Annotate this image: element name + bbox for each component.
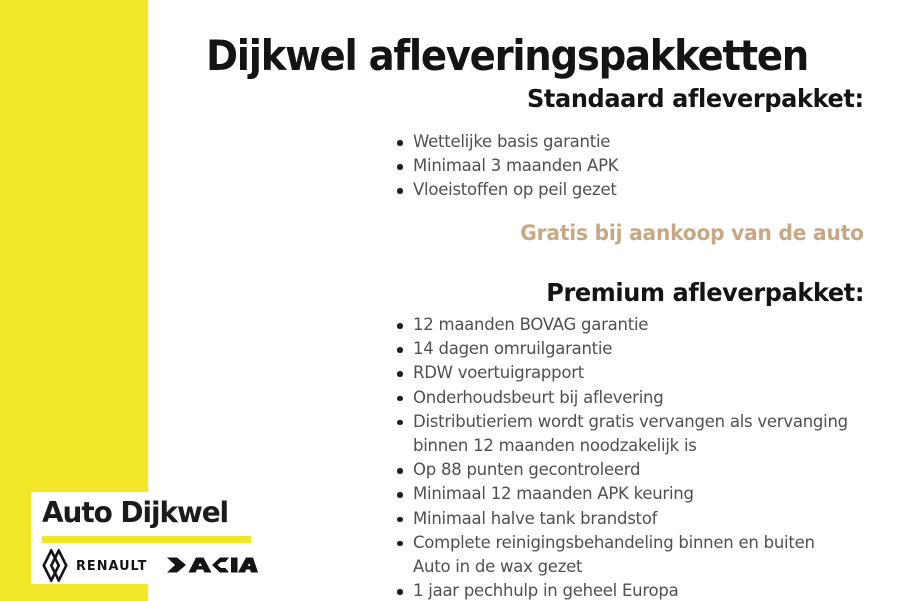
section-heading-premium: Premium afleverpakket:	[546, 278, 864, 308]
list-item: Onderhoudsbeurt bij aflevering	[413, 386, 883, 410]
list-item: Complete reinigingsbehandeling binnen en…	[413, 531, 883, 555]
poster-content: Dijkwel afleveringspakketten Standaard a…	[150, 0, 902, 601]
list-item: RDW voertuigrapport	[413, 361, 883, 385]
renault-diamond-icon	[42, 549, 68, 582]
dealer-logo: Auto Dijkwel RENAULT	[31, 492, 262, 584]
feature-list-premium: 12 maanden BOVAG garantie 14 dagen omrui…	[395, 313, 883, 601]
dacia-wordmark-icon	[166, 556, 258, 574]
list-item: Auto in de wax gezet	[413, 555, 883, 579]
delivery-packages-poster: Dijkwel afleveringspakketten Standaard a…	[0, 0, 902, 601]
list-item: 12 maanden BOVAG garantie	[413, 313, 883, 337]
list-item: 1 jaar pechhulp in geheel Europa	[413, 579, 883, 601]
free-with-purchase-tagline: Gratis bij aankoop van de auto	[521, 219, 864, 247]
list-item: Minimaal 12 maanden APK keuring	[413, 482, 883, 506]
list-item: Vloeistoffen op peil gezet	[413, 178, 883, 202]
brand-logos: RENAULT	[42, 549, 257, 583]
logo-yellow-rule	[42, 536, 251, 543]
page-title: Dijkwel afleveringspakketten	[179, 30, 836, 82]
list-item: Minimaal 3 maanden APK	[413, 154, 883, 178]
list-item: Wettelijke basis garantie	[413, 130, 883, 154]
list-item: Distributieriem wordt gratis vervangen a…	[413, 410, 883, 458]
renault-label: RENAULT	[76, 558, 147, 574]
list-item: Op 88 punten gecontroleerd	[413, 458, 883, 482]
dealer-wordmark: Auto Dijkwel	[42, 496, 228, 530]
section-heading-standaard: Standaard afleverpakket:	[527, 84, 864, 114]
list-item: Minimaal halve tank brandstof	[413, 507, 883, 531]
feature-list-standaard: Wettelijke basis garantie Minimaal 3 maa…	[395, 130, 883, 203]
list-item: 14 dagen omruilgarantie	[413, 337, 883, 361]
